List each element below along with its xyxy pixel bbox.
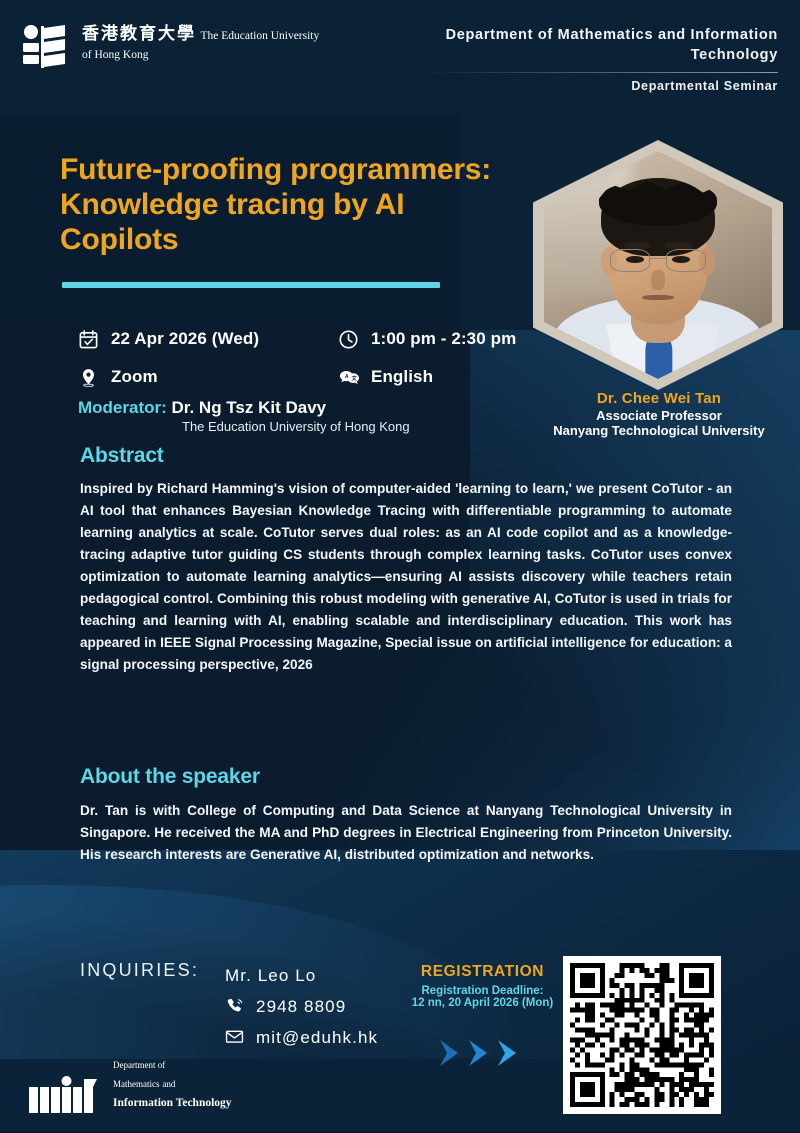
event-language: English <box>371 367 433 387</box>
event-language-cell: A 文 English <box>338 367 433 388</box>
moderator-label: Moderator: <box>78 398 167 417</box>
about-speaker-body: Dr. Tan is with College of Computing and… <box>80 800 732 866</box>
department-header: Department of Mathematics and Informatio… <box>418 26 778 93</box>
inquiries-email: mit@eduhk.hk <box>256 1028 378 1048</box>
event-details-row-2: Zoom A 文 English <box>78 358 528 396</box>
chevron-right-icon <box>495 1038 521 1068</box>
about-speaker-heading: About the speaker <box>80 765 260 789</box>
inquiries-head: INQUIRIES: Mr. Leo Lo 2948 8809 <box>80 960 378 1053</box>
university-logo: 香港教育大學 The Education University of Hong … <box>18 22 319 74</box>
registration-deadline-label: Registration Deadline: <box>400 985 565 997</box>
event-time: 1:00 pm - 2:30 pm <box>371 329 516 349</box>
moderator-affiliation: The Education University of Hong Kong <box>78 419 410 434</box>
header-divider <box>418 72 778 73</box>
event-time-cell: 1:00 pm - 2:30 pm <box>338 329 516 350</box>
university-name-english-line2: of Hong Kong <box>82 49 148 61</box>
footer-line-1: Department of <box>113 1060 165 1070</box>
inquiries-email-row[interactable]: mit@eduhk.hk <box>225 1022 378 1053</box>
speaker-role: Associate Professor <box>520 408 798 423</box>
footer-line-2-bold: Mathematics <box>113 1079 160 1089</box>
phone-icon <box>225 996 246 1017</box>
moderator-line: Moderator: Dr. Ng Tsz Kit Davy <box>78 398 410 418</box>
footer-line-2: Mathematics and <box>113 1078 175 1090</box>
event-venue: Zoom <box>111 367 158 387</box>
svg-text:文: 文 <box>352 373 358 381</box>
qr-code-icon[interactable] <box>563 956 721 1114</box>
chevron-right-icon <box>437 1038 463 1068</box>
eduhk-logo-icon <box>18 22 70 74</box>
footer-line-2-small: and <box>162 1079 175 1089</box>
event-details: 22 Apr 2026 (Wed) 1:00 pm - 2:30 pm Zoom <box>78 320 528 396</box>
qr-code-matrix <box>570 963 714 1107</box>
inquiries-contact-list: Mr. Leo Lo 2948 8809 mit <box>225 960 378 1053</box>
registration-deadline-value: 12 nn, 20 April 2026 (Mon) <box>400 997 565 1009</box>
title-underline <box>62 282 440 288</box>
event-details-row-1: 22 Apr 2026 (Wed) 1:00 pm - 2:30 pm <box>78 320 528 358</box>
moderator-block: Moderator: Dr. Ng Tsz Kit Davy The Educa… <box>78 398 410 434</box>
inquiries-label: INQUIRIES: <box>80 960 199 981</box>
inquiries-phone: 2948 8809 <box>256 997 346 1017</box>
inquiries-contact-name: Mr. Leo Lo <box>225 966 316 986</box>
clock-icon <box>338 329 359 350</box>
footer-line-3: Information Technology <box>113 1097 232 1109</box>
university-name-block: 香港教育大學 The Education University of Hong … <box>82 22 319 63</box>
registration-title: REGISTRATION <box>400 963 565 981</box>
registration-arrows <box>437 1038 521 1068</box>
department-footer-text: Department of Mathematics and Informatio… <box>113 1055 232 1113</box>
department-footer-logo: Department of Mathematics and Informatio… <box>28 1055 232 1113</box>
calendar-icon <box>78 329 99 350</box>
event-date-cell: 22 Apr 2026 (Wed) <box>78 329 338 350</box>
event-venue-cell: Zoom <box>78 367 338 388</box>
inquiries-phone-row[interactable]: 2948 8809 <box>225 991 378 1022</box>
location-pin-icon <box>78 367 99 388</box>
speaker-info: Dr. Chee Wei Tan Associate Professor Nan… <box>520 390 798 438</box>
inquiries-block: INQUIRIES: Mr. Leo Lo 2948 8809 <box>80 960 378 1053</box>
speaker-organization: Nanyang Technological University <box>520 423 798 438</box>
abstract-body: Inspired by Richard Hamming's vision of … <box>80 478 732 676</box>
university-name-chinese: 香港教育大學 <box>82 24 196 44</box>
department-name: Department of Mathematics and Informatio… <box>418 26 778 65</box>
chevron-right-icon <box>466 1038 492 1068</box>
event-type-label: Departmental Seminar <box>418 79 778 93</box>
moderator-name: Dr. Ng Tsz Kit Davy <box>172 398 327 417</box>
abstract-heading: Abstract <box>80 444 164 468</box>
speaker-photo-frame <box>533 140 783 390</box>
svg-text:A: A <box>345 374 349 380</box>
seminar-title: Future-proofing programmers: Knowledge t… <box>60 152 500 257</box>
registration-block: REGISTRATION Registration Deadline: 12 n… <box>400 963 565 1009</box>
event-date: 22 Apr 2026 (Wed) <box>111 329 259 349</box>
speech-bubbles-icon: A 文 <box>338 367 359 388</box>
mit-logo-icon <box>28 1075 104 1113</box>
envelope-icon <box>225 1027 246 1048</box>
speaker-name: Dr. Chee Wei Tan <box>520 390 798 407</box>
inquiries-name-row: Mr. Leo Lo <box>225 960 378 991</box>
university-name-english-line1: The Education University <box>200 30 319 42</box>
